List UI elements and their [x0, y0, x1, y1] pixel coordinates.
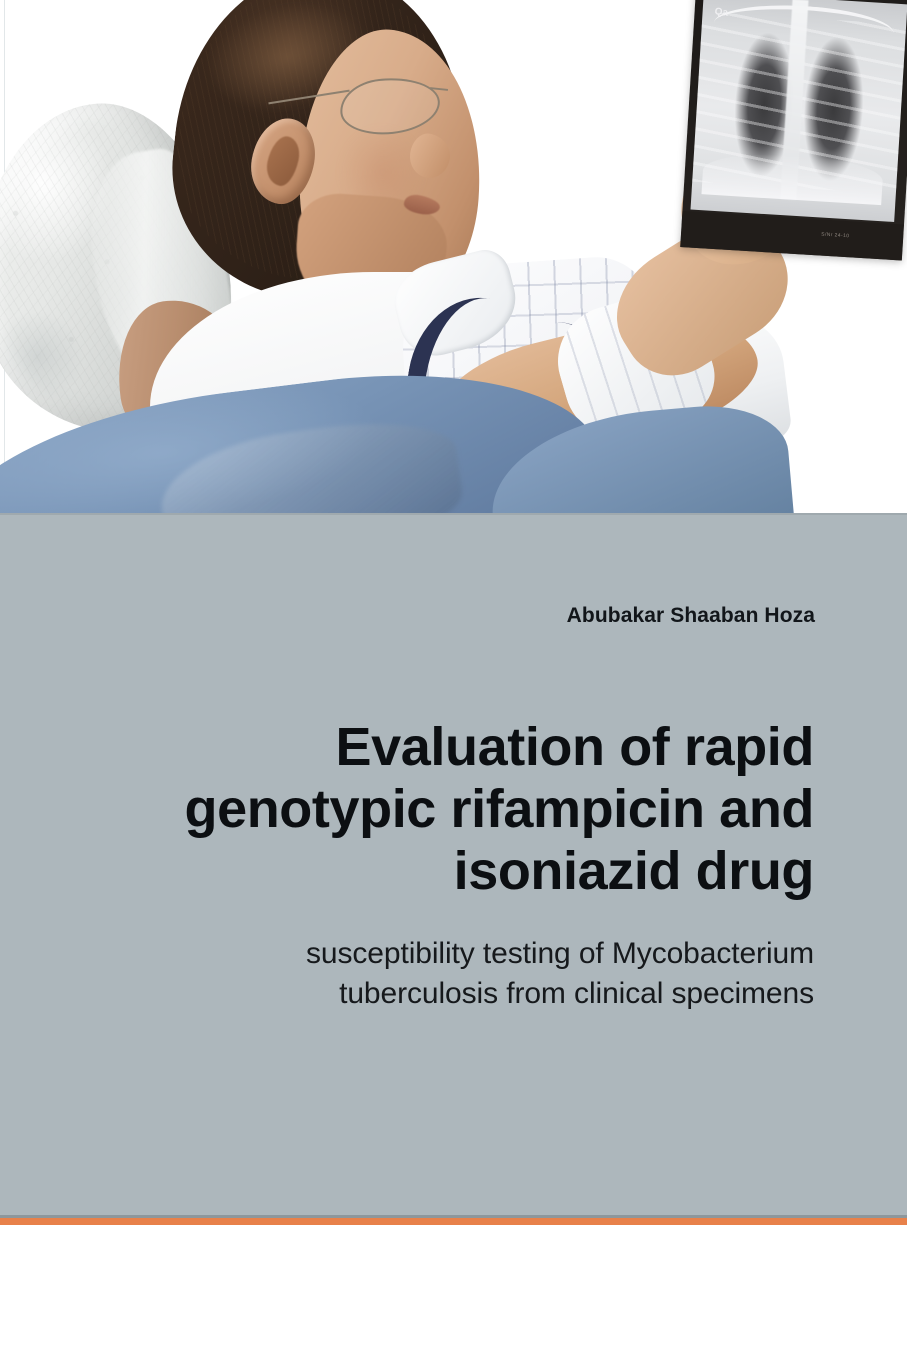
orange-divider-rule	[0, 1218, 907, 1225]
title-line: genotypic rifampicin and	[54, 778, 814, 840]
cover-photograph: Qa S/Nr 24-10	[0, 0, 907, 514]
book-cover: Qa S/Nr 24-10 Abubakar Shaaban Hoza Eval…	[0, 0, 907, 1360]
title-line: Evaluation of rapid	[54, 716, 814, 778]
book-title: Evaluation of rapid genotypic rifampicin…	[54, 716, 814, 902]
subtitle-line: susceptibility testing of Mycobacterium	[54, 934, 814, 974]
title-line: isoniazid drug	[54, 840, 814, 902]
chest-xray-film: Qa S/Nr 24-10	[680, 0, 907, 261]
xray-marker-label: Qa	[714, 6, 729, 18]
cover-footer: VDM Verlag Dr. Müller	[0, 1225, 907, 1360]
panel-top-edge	[0, 513, 907, 515]
book-subtitle: susceptibility testing of Mycobacterium …	[54, 934, 814, 1014]
subtitle-line: tuberculosis from clinical specimens	[54, 974, 814, 1014]
author-name: Abubakar Shaaban Hoza	[75, 604, 815, 628]
